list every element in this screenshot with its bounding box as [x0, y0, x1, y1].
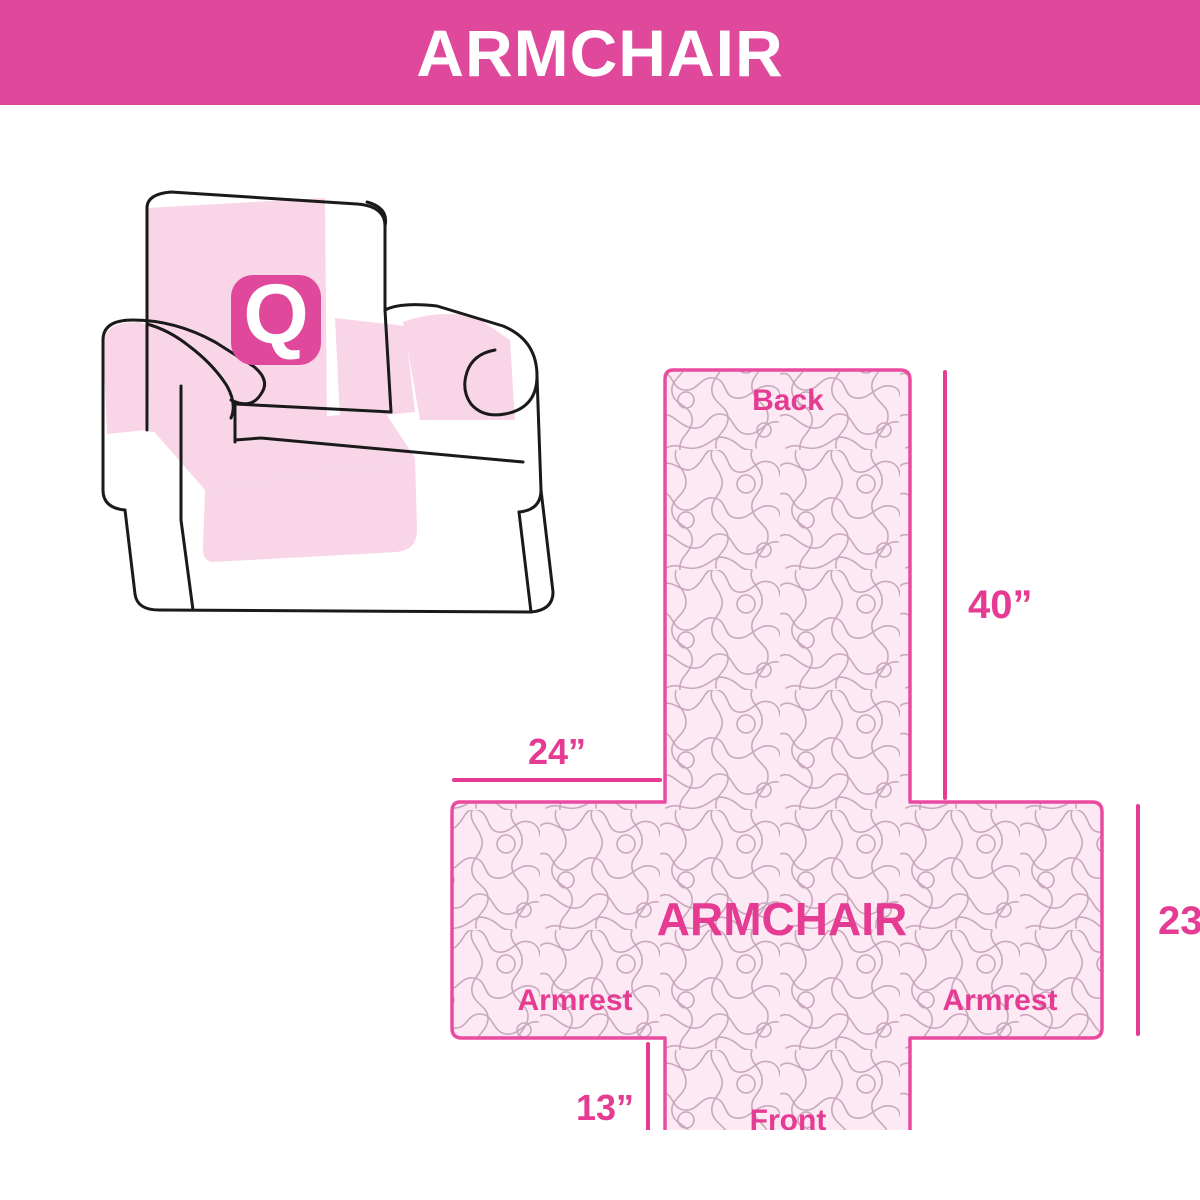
- dim-label-front-height: 13”: [576, 1087, 634, 1128]
- dim-label-center-height: 23”: [1158, 899, 1200, 943]
- dim-label-back-height: 40”: [968, 583, 1033, 627]
- panel-label-center: ARMCHAIR: [657, 893, 907, 945]
- slipcover-layout-diagram: Back ARMCHAIR Armrest Armrest Front 40” …: [420, 330, 1200, 1130]
- chair-right-arm-cover: [335, 318, 415, 420]
- panel-label-back: Back: [752, 384, 824, 417]
- q-logo-badge: Q: [231, 267, 321, 365]
- q-logo-letter: Q: [243, 267, 308, 361]
- dim-label-armrest-width: 24”: [528, 731, 586, 772]
- panel-label-armrest-right: Armrest: [942, 984, 1057, 1017]
- content-area: Q: [0, 105, 1200, 1200]
- panel-label-armrest-left: Armrest: [517, 984, 632, 1017]
- chair-base-front-edge: [181, 520, 193, 610]
- header-banner: ARMCHAIR: [0, 0, 1200, 105]
- panel-label-front: Front: [750, 1104, 827, 1130]
- page-title: ARMCHAIR: [416, 20, 783, 86]
